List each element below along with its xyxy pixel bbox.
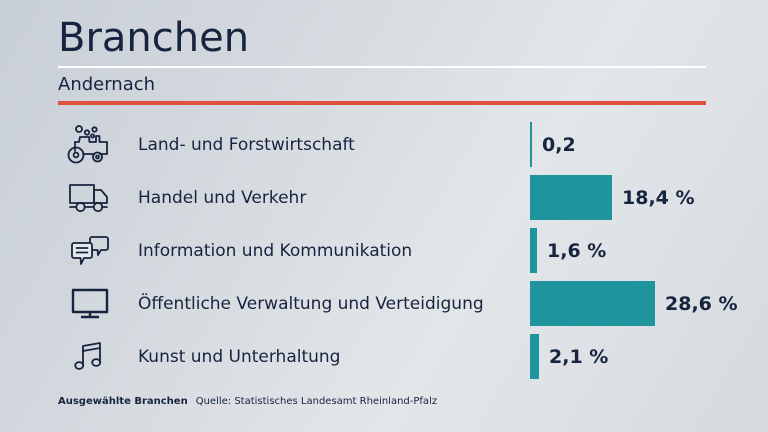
bar-value-label: 2,1 %: [549, 346, 608, 368]
chart-row-label: Handel und Verkehr: [138, 171, 306, 224]
chart-row: Kunst und Unterhaltung 2,1 %: [0, 330, 768, 383]
bar-value-label: 1,6 %: [547, 240, 606, 262]
bar-value-label: 18,4 %: [622, 187, 695, 209]
chart-row-bar-zone: 1,6 %: [530, 224, 606, 277]
footer-source: Quelle: Statistisches Landesamt Rheinlan…: [196, 396, 437, 407]
chart-row-label: Information und Kommunikation: [138, 224, 412, 277]
footer-highlight: Ausgewählte Branchen: [58, 396, 188, 407]
bar-value-label: 28,6 %: [665, 293, 738, 315]
speech-bubbles-icon: [58, 224, 122, 277]
bar: [530, 122, 532, 167]
chart-row: Handel und Verkehr 18,4 %: [0, 171, 768, 224]
monitor-icon: [58, 277, 122, 330]
chart-header: Branchen Andernach: [58, 14, 706, 105]
music-note-icon: [58, 330, 122, 383]
chart-row-label: Land- und Forstwirtschaft: [138, 118, 355, 171]
bar: [530, 334, 539, 379]
tractor-icon: [58, 118, 122, 171]
bar: [530, 228, 537, 273]
page-subtitle: Andernach: [58, 74, 706, 96]
chart-row: Öffentliche Verwaltung und Verteidigung …: [0, 277, 768, 330]
divider-white: [58, 66, 706, 68]
chart-row-bar-zone: 28,6 %: [530, 277, 738, 330]
chart-rows: Land- und Forstwirtschaft 0,2 Handel u: [0, 118, 768, 383]
divider-red: [58, 101, 706, 105]
page-title: Branchen: [58, 14, 706, 62]
bar-value-label: 0,2: [542, 134, 576, 156]
chart-row: Land- und Forstwirtschaft 0,2: [0, 118, 768, 171]
chart-row: Information und Kommunikation 1,6 %: [0, 224, 768, 277]
bar: [530, 281, 655, 326]
chart-row-label: Öffentliche Verwaltung und Verteidigung: [138, 277, 484, 330]
truck-icon: [58, 171, 122, 224]
chart-row-bar-zone: 0,2: [530, 118, 576, 171]
chart-row-bar-zone: 2,1 %: [530, 330, 608, 383]
infographic-chart: Branchen Andernach: [0, 0, 768, 432]
chart-row-bar-zone: 18,4 %: [530, 171, 695, 224]
bar: [530, 175, 612, 220]
chart-footer: Ausgewählte Branchen Quelle: Statistisch…: [58, 396, 437, 407]
chart-row-label: Kunst und Unterhaltung: [138, 330, 340, 383]
